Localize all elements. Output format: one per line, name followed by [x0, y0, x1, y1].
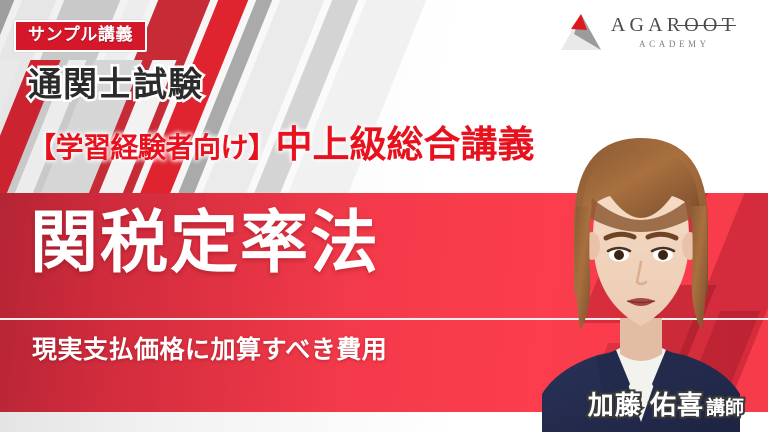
exam-name-heading: 通関士試験	[28, 68, 203, 102]
logo-main-text: AGAROOT	[611, 15, 738, 35]
agaroot-logo: AGAROOT ACADEMY	[560, 12, 738, 52]
course-audience-prefix: 【学習経験者向け】	[28, 134, 276, 162]
agaroot-wordmark: AGAROOT ACADEMY	[611, 15, 738, 49]
sample-lecture-badge-label: サンプル講義	[28, 25, 133, 44]
agaroot-triangle-mark-icon	[560, 12, 602, 52]
topic-title: 関税定率法	[30, 209, 380, 277]
topic-subtitle: 現実支払価格に加算すべき費用	[32, 338, 387, 363]
logo-tagline-text: ACADEMY	[639, 40, 710, 49]
instructor-name: 加藤 佑喜 講師	[588, 385, 744, 422]
course-heading: 【学習経験者向け】 中上級総合講義	[28, 126, 535, 163]
sample-lecture-badge: サンプル講義	[14, 20, 147, 52]
instructor-name-text: 加藤 佑喜	[588, 385, 704, 422]
lecture-title-slide: AGAROOT ACADEMY サンプル講義 通関士試験 【学習経験者向け】 中…	[0, 0, 768, 432]
instructor-name-suffix: 講師	[706, 393, 744, 420]
course-title: 中上級総合講義	[276, 126, 535, 163]
